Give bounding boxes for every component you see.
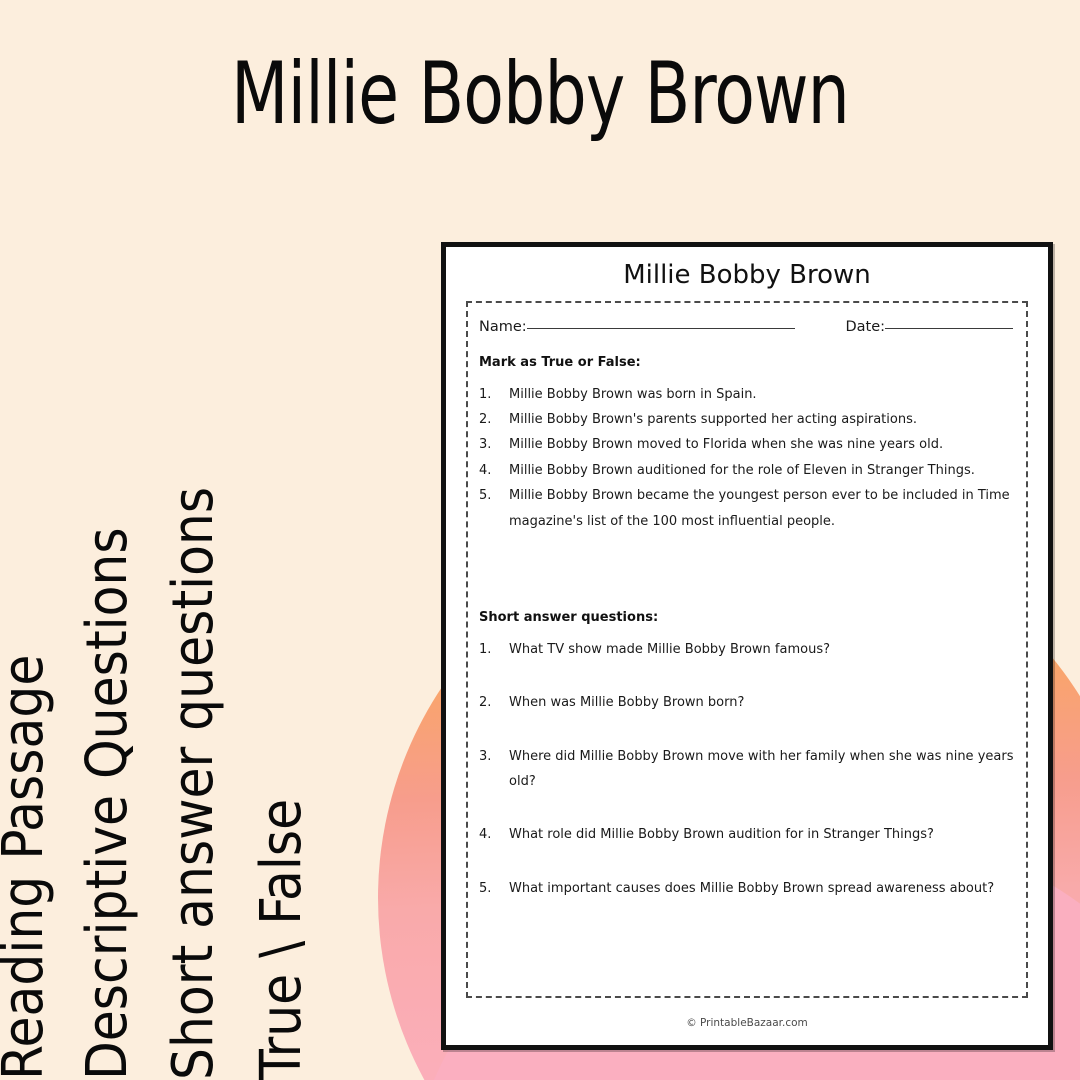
worksheet-title: Millie Bobby Brown [466, 259, 1028, 293]
question-number: 4. [479, 458, 509, 483]
footer-credit: © PrintableBazaar.com [446, 1017, 1048, 1029]
date-label: Date: [845, 319, 885, 335]
side-label-short-answer-questions: Short answer questions [166, 487, 222, 1080]
question-number: 5. [479, 483, 509, 534]
short-answer-question-item: 5. What important causes does Millie Bob… [479, 876, 1015, 901]
question-number: 3. [479, 744, 509, 795]
name-field[interactable]: Name: [479, 319, 795, 335]
short-answer-question-item: 2. When was Millie Bobby Brown born? [479, 690, 1015, 715]
short-answer-heading: Short answer questions: [479, 610, 1015, 625]
question-text: Where did Millie Bobby Brown move with h… [509, 744, 1015, 795]
question-text: What important causes does Millie Bobby … [509, 876, 1015, 901]
question-number: 2. [479, 407, 509, 432]
question-number: 1. [479, 637, 509, 662]
worksheet-content: Millie Bobby Brown Name: Date: Mark as T… [446, 247, 1048, 1045]
date-input-rule[interactable] [885, 328, 1013, 329]
true-false-question-item: 2. Millie Bobby Brown's parents supporte… [479, 407, 1015, 432]
name-label: Name: [479, 319, 527, 335]
side-label-true-false: True \ False [254, 799, 310, 1080]
section-spacer [479, 534, 1015, 610]
question-text: Millie Bobby Brown moved to Florida when… [509, 432, 1015, 457]
question-number: 4. [479, 822, 509, 847]
short-answer-question-item: 3. Where did Millie Bobby Brown move wit… [479, 744, 1015, 795]
question-text: Millie Bobby Brown became the youngest p… [509, 483, 1015, 534]
name-date-row: Name: Date: [479, 319, 1015, 335]
question-text: What TV show made Millie Bobby Brown fam… [509, 637, 1015, 662]
question-number: 5. [479, 876, 509, 901]
question-text: What role did Millie Bobby Brown auditio… [509, 822, 1015, 847]
true-false-question-list: 1. Millie Bobby Brown was born in Spain.… [479, 382, 1015, 534]
question-number: 1. [479, 382, 509, 407]
question-text: Millie Bobby Brown's parents supported h… [509, 407, 1015, 432]
short-answer-question-item: 1. What TV show made Millie Bobby Brown … [479, 637, 1015, 662]
side-label-reading-passage: Reading Passage [0, 655, 52, 1080]
true-false-question-item: 5. Millie Bobby Brown became the younges… [479, 483, 1015, 534]
date-field[interactable]: Date: [845, 319, 1013, 335]
name-input-rule[interactable] [527, 328, 795, 329]
question-text: Millie Bobby Brown was born in Spain. [509, 382, 1015, 407]
side-label-group: Reading Passage Descriptive Questions Sh… [0, 0, 400, 1080]
true-false-heading: Mark as True or False: [479, 355, 1015, 370]
true-false-question-item: 1. Millie Bobby Brown was born in Spain. [479, 382, 1015, 407]
true-false-question-item: 4. Millie Bobby Brown auditioned for the… [479, 458, 1015, 483]
question-number: 3. [479, 432, 509, 457]
short-answer-question-item: 4. What role did Millie Bobby Brown audi… [479, 822, 1015, 847]
worksheet-dashed-container: Name: Date: Mark as True or False: 1. Mi… [466, 301, 1028, 998]
question-text: When was Millie Bobby Brown born? [509, 690, 1015, 715]
question-text: Millie Bobby Brown auditioned for the ro… [509, 458, 1015, 483]
worksheet-sheet: Millie Bobby Brown Name: Date: Mark as T… [441, 242, 1053, 1050]
side-label-descriptive-questions: Descriptive Questions [80, 527, 136, 1080]
question-number: 2. [479, 690, 509, 715]
short-answer-question-list: 1. What TV show made Millie Bobby Brown … [479, 637, 1015, 901]
true-false-question-item: 3. Millie Bobby Brown moved to Florida w… [479, 432, 1015, 457]
